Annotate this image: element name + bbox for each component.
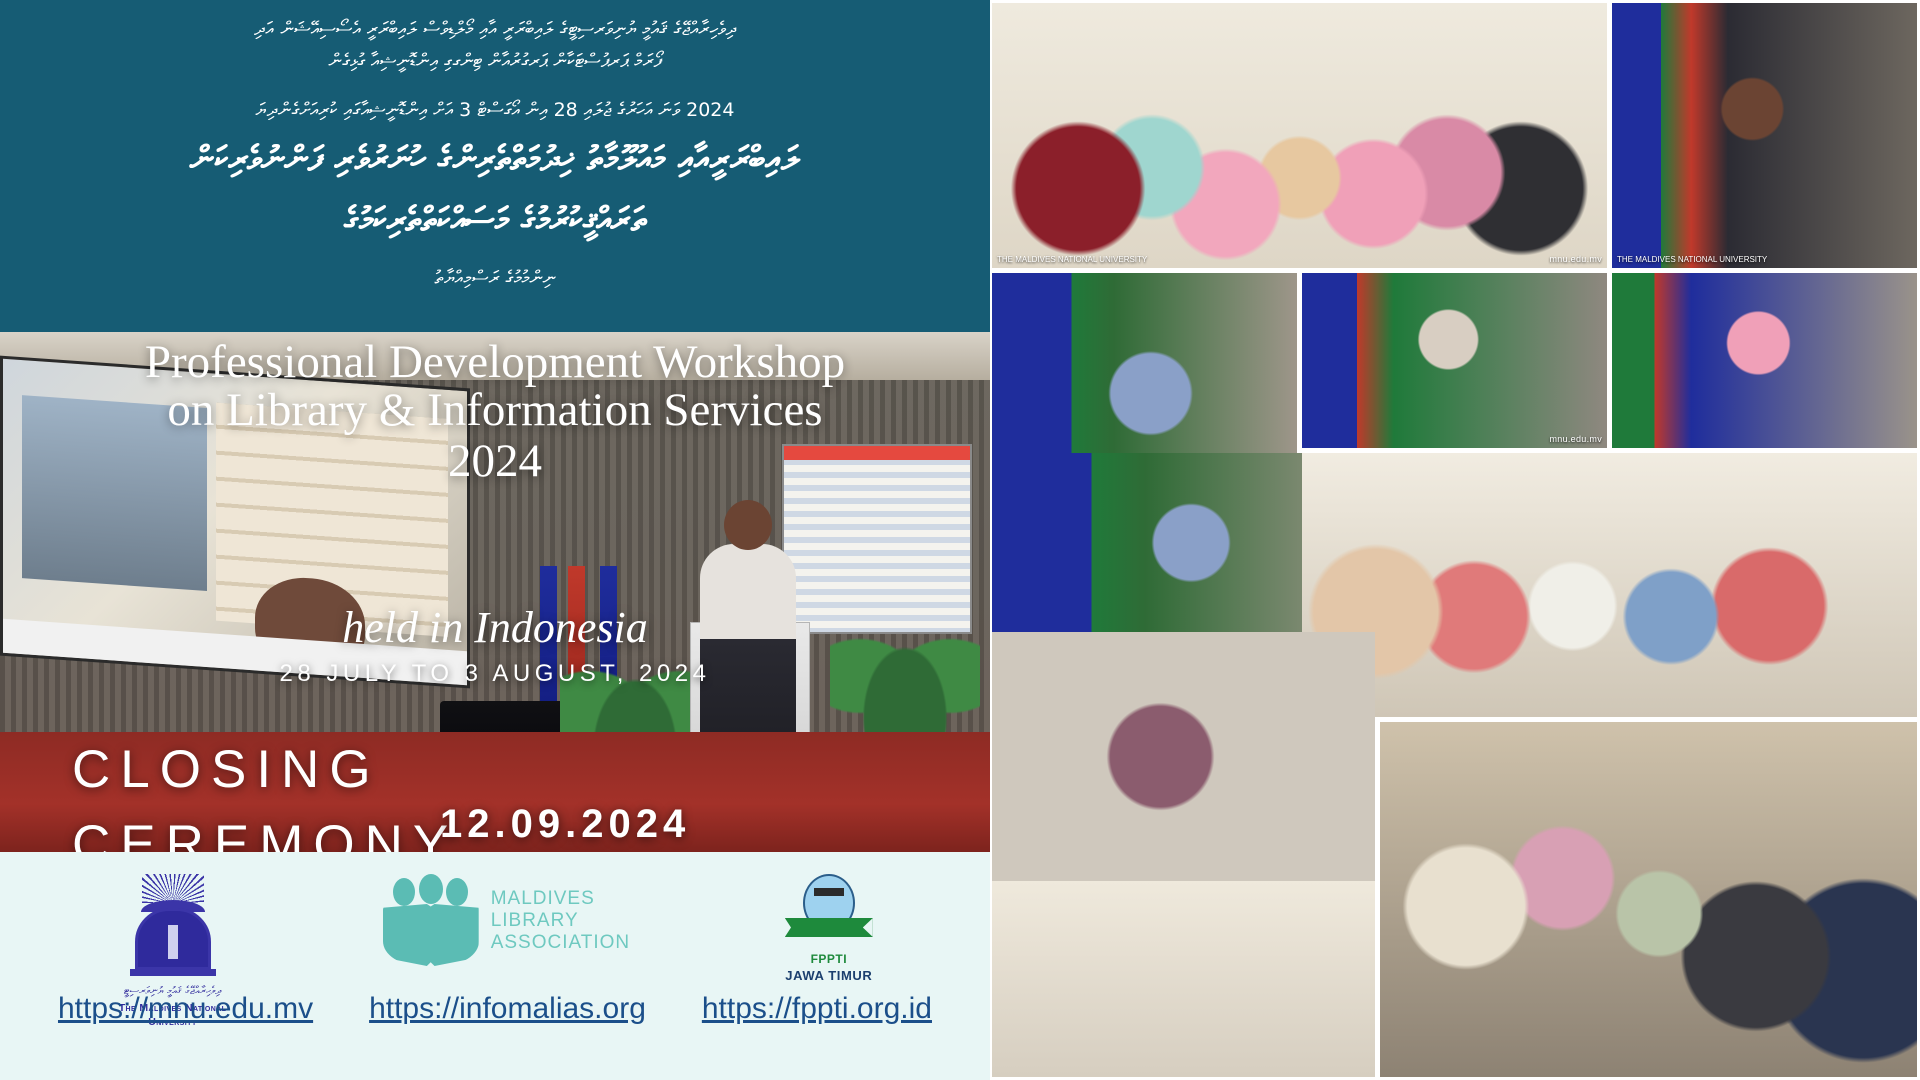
url-infomalias[interactable]: https://infomalias.org [369,992,646,1026]
photo-watermark-logo: THE MALDIVES NATIONAL UNIVERSITY [997,255,1147,264]
hero-closing-line-2: CEREMONY [72,815,458,852]
mla-book-people-icon [383,874,479,968]
url-fppti[interactable]: https://fppti.org.id [702,992,932,1026]
fppti-logo: FPPTI JAWA TIMUR [785,874,872,983]
hero-photo-closing-ceremony: Professional Development Workshop on Lib… [0,332,990,852]
dhivehi-date-line: 2024 ވަނަ އަހަރުގެ ޖުލައި 28 އިން އޯގަސް… [22,95,968,125]
fppti-globe-icon [789,874,869,952]
logo-row: ދިވެހިރާއްޖޭގެ ޤައުމީ ޔުނިވަރސިޓީ The Ma… [0,852,990,992]
photo-watermark-url: mnu.edu.mv [1549,254,1602,264]
person-head-left [393,878,415,906]
mla-logo: MALDIVES LIBRARY ASSOCIATION [383,874,630,968]
dhivehi-intro-line-1: ދިވެހިރާއްޖޭގެ ޤައުމީ ޔުނިވަރސިޓީގެ ލައި… [22,14,968,44]
hero-title-line-2: on Library & Information Services [167,384,822,436]
hero-closing-ceremony-label: CLOSING CEREMONY [72,732,458,852]
dhivehi-title-line-2: ތަރައްޤީކުރުމުގެ މަސައްކަތްތެރިކަމުގެ [22,194,968,247]
photo-audience-closeup [1380,722,1918,1077]
hero-title-year: 2024 [0,437,990,485]
left-column: ދިވެހިރާއްޖޭގެ ޤައުމީ ޔުނިވަރސިޓީގެ ލައި… [0,0,990,1080]
hero-date-range: 28 JULY TO 3 AUGUST, 2024 [0,660,990,688]
dhivehi-title-line-1: ލައިބްރަރީއާއި މައުލޫމާތު ޚިދުމަތްތެރިން… [22,133,968,186]
open-book-shape [383,904,479,966]
mla-line-2: LIBRARY [491,910,630,932]
green-ribbon [785,918,873,937]
photo-watermark-url: mnu.edu.mv [1549,434,1602,444]
photo-male-speaker-podium: THE MALDIVES NATIONAL UNIVERSITY [1612,3,1917,268]
mla-line-3: ASSOCIATION [491,932,630,954]
graduation-cap-icon [814,888,844,896]
photo-grid: THE MALDIVES NATIONAL UNIVERSITY mnu.edu… [990,0,1920,1080]
hero-event-date: 12.09.2024 [440,802,690,847]
crest-base [130,969,216,976]
photo-watermark-logo: THE MALDIVES NATIONAL UNIVERSITY [1617,255,1767,264]
mla-wordmark: MALDIVES LIBRARY ASSOCIATION [491,888,630,954]
poster-root: ދިވެހިރާއްޖޭގެ ޤައުމީ ޔުނިވަރސިޓީގެ ލައި… [0,0,1920,1080]
hero-text-overlay: Professional Development Workshop on Lib… [0,332,990,852]
hero-title: Professional Development Workshop on Lib… [0,338,990,485]
person-head-right [446,878,468,906]
mla-line-1: MALDIVES [491,888,630,910]
fppti-region: JAWA TIMUR [785,968,872,983]
photo-speaker-patterned-hijab: mnu.edu.mv [1302,273,1607,448]
url-row: https://mnu.edu.mv https://infomalias.or… [0,992,990,1026]
dhivehi-intro-line-2: ފޯރަމް ޕަރޕުސްޓަކާން ޕަރގުރުއާން ޓިންގގި… [22,46,968,76]
hero-closing-line-1: CLOSING [72,740,381,799]
person-head-center [419,874,443,904]
dhivehi-footer-line: ނިންމުމުގެ ރަސްމިއްޔާތު [22,263,968,293]
hero-held-in: held in Indonesia [0,602,990,653]
mnu-crest-icon [118,874,228,978]
photo-international-guests-seated [1302,453,1917,718]
photo-audience-front-rows: THE MALDIVES NATIONAL UNIVERSITY mnu.edu… [992,3,1607,268]
photo-speaker-with-banner [992,632,1375,1077]
dhivehi-header: ދިވެހިރާއްޖޭގެ ޤައުމީ ޔުނިވަރސިޓީގެ ލައި… [0,0,990,332]
url-mnu[interactable]: https://mnu.edu.mv [58,992,313,1026]
photo-speaker-pink-hijab [1612,273,1917,448]
fppti-acronym: FPPTI [811,952,848,966]
hero-title-line-1: Professional Development Workshop [145,336,845,388]
footer-bar: ދިވެހިރާއްޖޭގެ ޤައުމީ ޔުނިވަރސިޓީ The Ma… [0,852,990,1080]
archway-icon [135,908,211,970]
